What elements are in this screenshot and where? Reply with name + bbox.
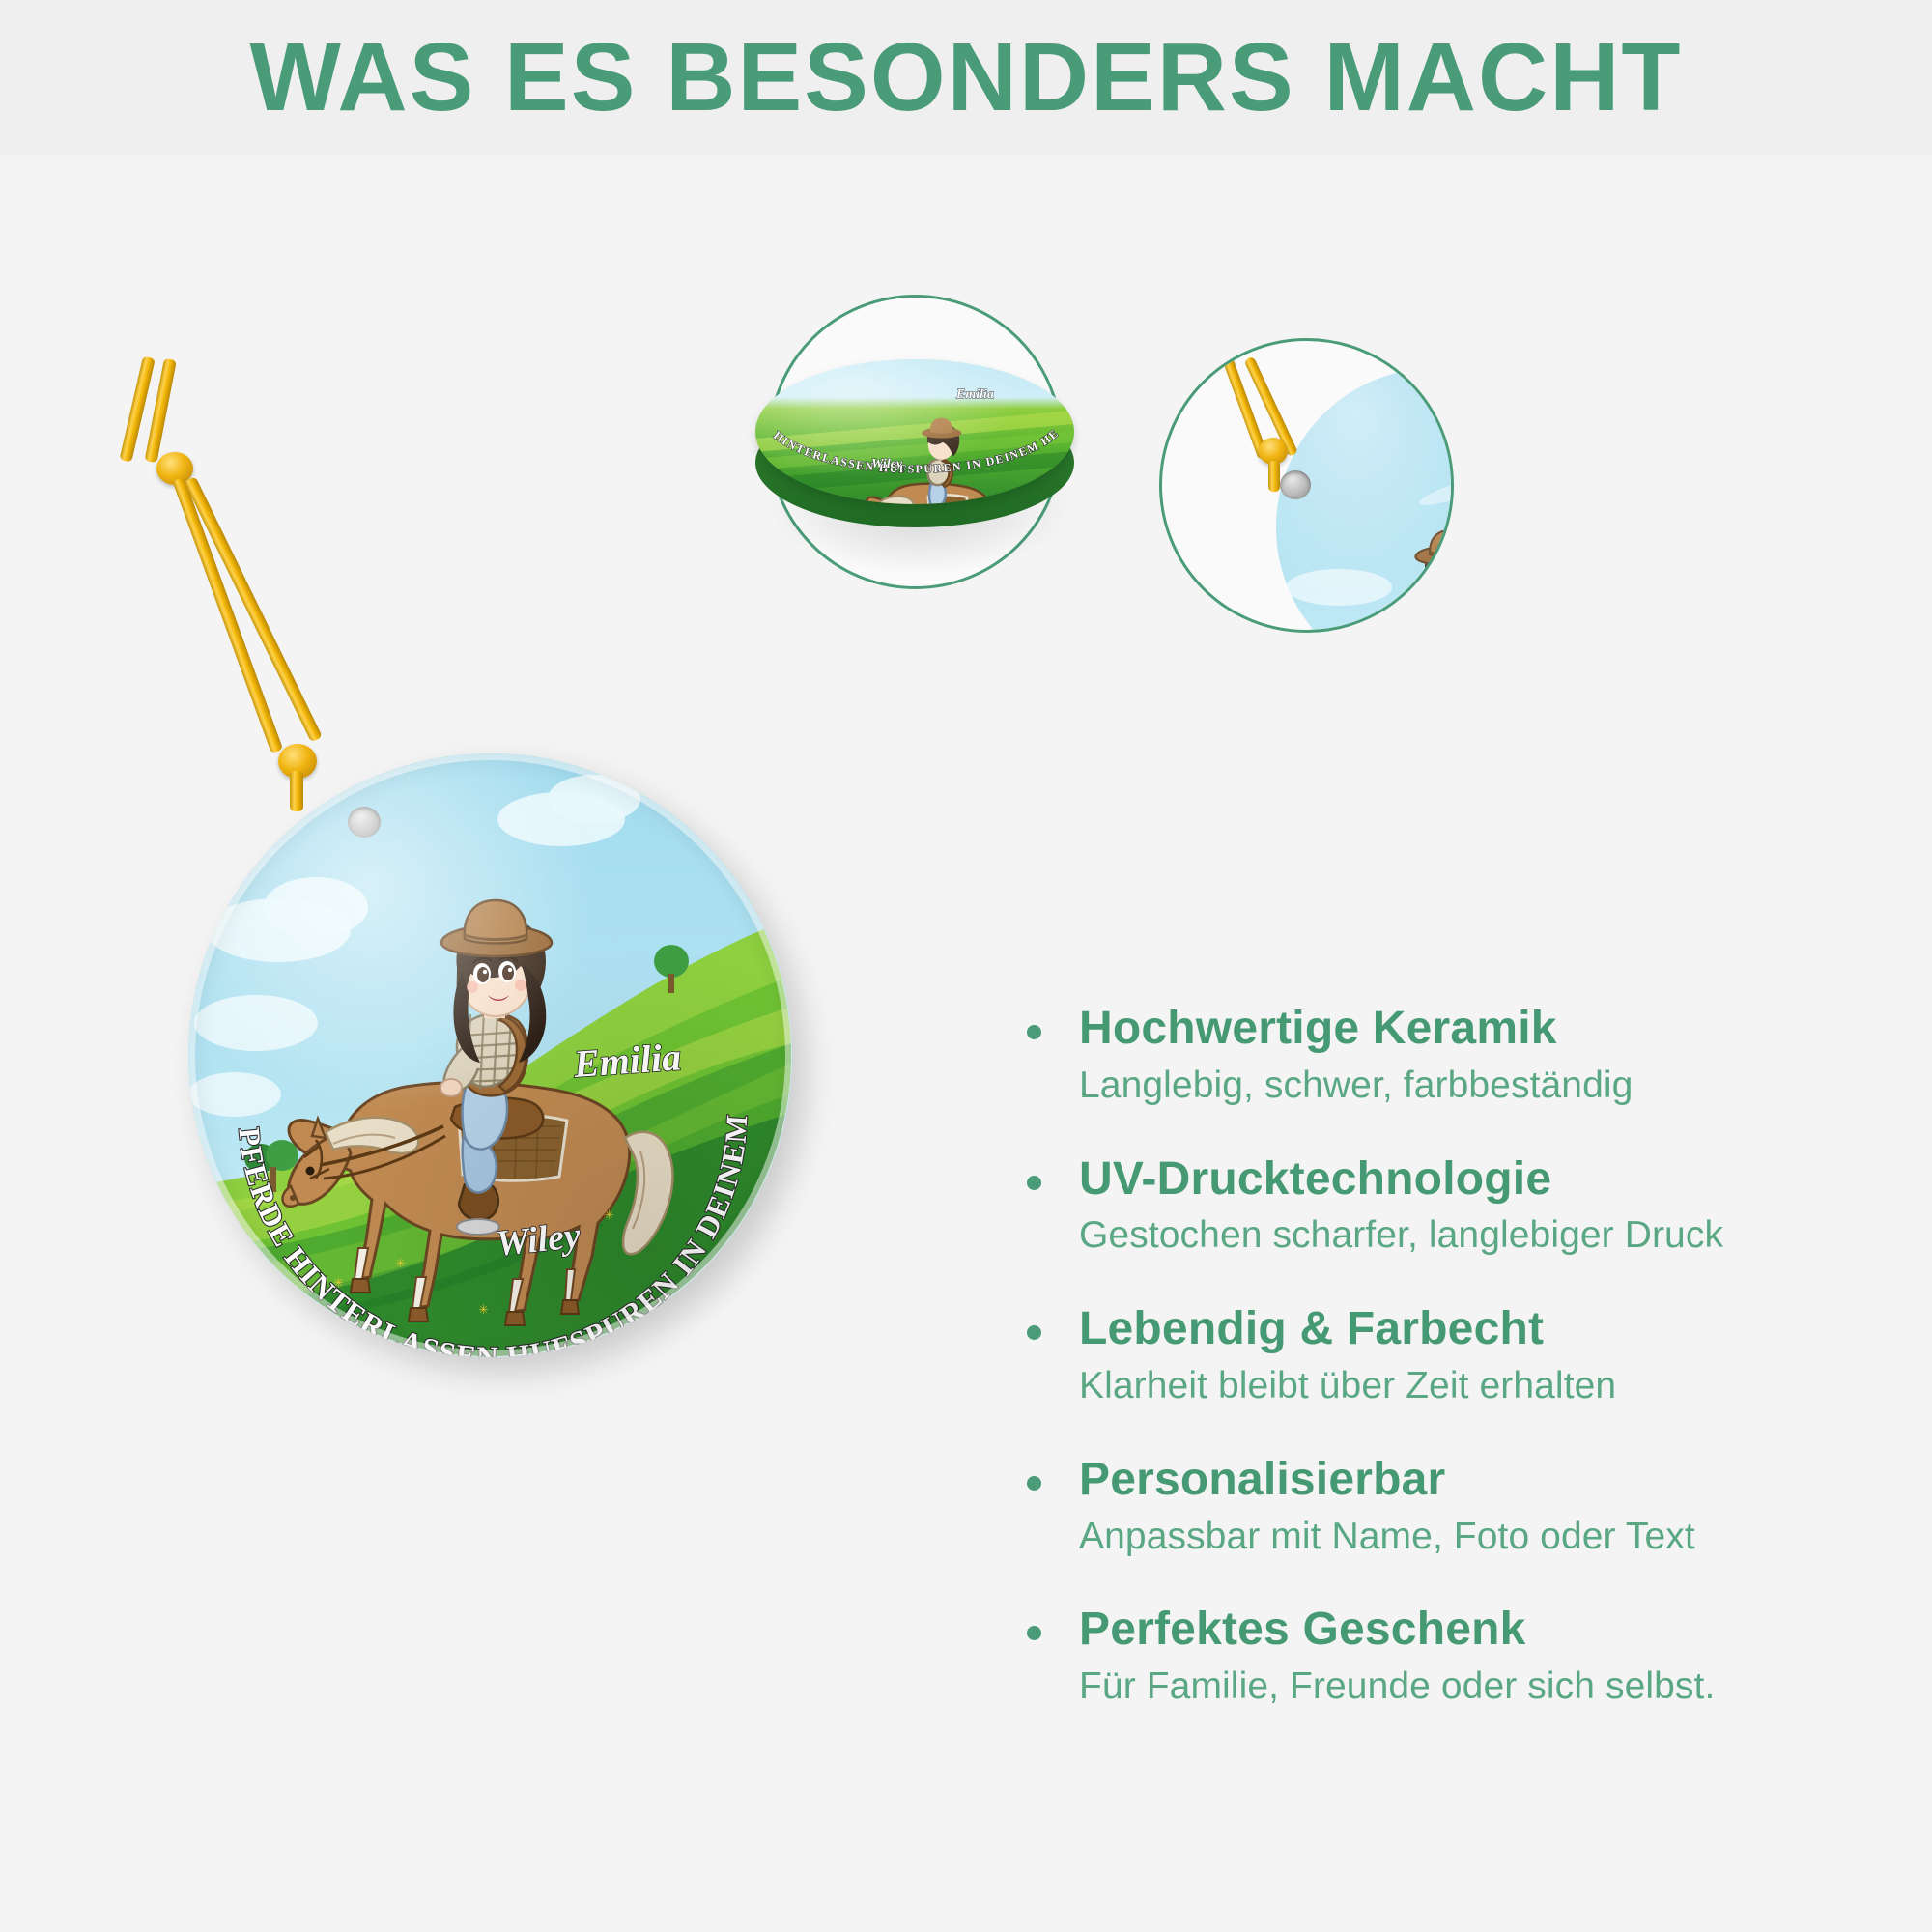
feature-list: Hochwertige Keramik Langlebig, schwer, f…: [1009, 1005, 1811, 1756]
product-showcase-stage: ✳ ✳ ✳ ✳ PFERDE HINTERLASSEN HUFSPUREN IN…: [0, 155, 1932, 1932]
list-item: Hochwertige Keramik Langlebig, schwer, f…: [1009, 1005, 1811, 1107]
feature-subtitle: Für Familie, Freunde oder sich selbst.: [1079, 1665, 1811, 1708]
bullet-dot-icon: [1027, 1626, 1041, 1640]
feature-subtitle: Gestochen scharfer, langlebiger Druck: [1079, 1214, 1811, 1257]
bullet-dot-icon: [1027, 1176, 1041, 1190]
feature-title: Lebendig & Farbecht: [1079, 1305, 1811, 1354]
rider-and-horse-illustration: [188, 753, 792, 1357]
bullet-dot-icon: [1027, 1476, 1041, 1491]
detail-1-ornament-group: HINTERLASSEN HUFSPUREN IN DEINEM HERZEN …: [744, 309, 1092, 580]
detail-2-cord-tail: [1268, 461, 1280, 492]
feature-title: UV-Drucktechnologie: [1079, 1155, 1811, 1205]
list-item: Lebendig & Farbecht Klarheit bleibt über…: [1009, 1305, 1811, 1407]
list-item: Perfektes Geschenk Für Familie, Freunde …: [1009, 1605, 1811, 1708]
grass-tuft: ✳: [478, 1302, 489, 1318]
detail-view-hanger-hole: Emilia: [1159, 338, 1454, 633]
hanger-hole: [348, 807, 381, 838]
grass-tuft: ✳: [333, 1275, 344, 1291]
grass-tuft: ✳: [604, 1207, 614, 1223]
main-ornament-disc: ✳ ✳ ✳ ✳ PFERDE HINTERLASSEN HUFSPUREN IN…: [188, 753, 792, 1357]
feature-title: Perfektes Geschenk: [1079, 1605, 1811, 1655]
list-item: UV-Drucktechnologie Gestochen scharfer, …: [1009, 1155, 1811, 1258]
feature-subtitle: Langlebig, schwer, farbbeständig: [1079, 1065, 1811, 1107]
feature-subtitle: Klarheit bleibt über Zeit erhalten: [1079, 1365, 1811, 1407]
grass-tuft: ✳: [395, 1256, 406, 1271]
bullet-dot-icon: [1027, 1325, 1041, 1340]
feature-title: Hochwertige Keramik: [1079, 1005, 1811, 1054]
header-bar: WAS ES BESONDERS MACHT: [0, 0, 1932, 155]
bullet-dot-icon: [1027, 1025, 1041, 1039]
detail-2-hanger-hole: [1280, 470, 1311, 499]
feature-subtitle: Anpassbar mit Name, Foto oder Text: [1079, 1516, 1811, 1558]
page-title: WAS ES BESONDERS MACHT: [249, 22, 1682, 133]
feature-title: Personalisierbar: [1079, 1456, 1811, 1505]
list-item: Personalisierbar Anpassbar mit Name, Fot…: [1009, 1456, 1811, 1558]
